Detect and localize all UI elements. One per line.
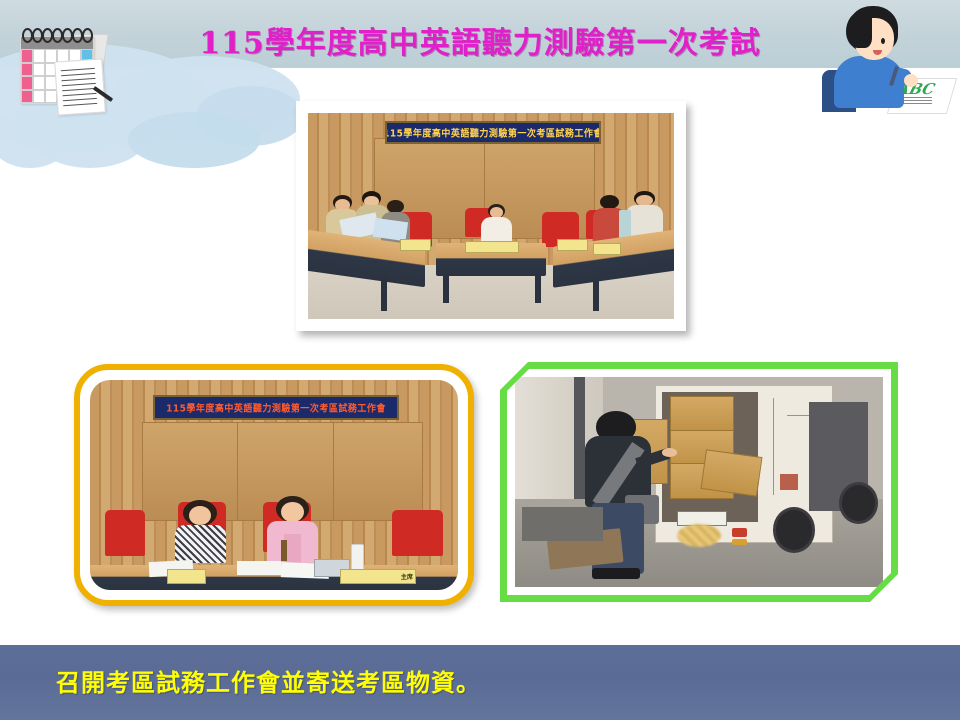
calendar-icon — [14, 22, 124, 118]
led-banner-text: 115學年度高中英語聽力測驗第一次考區試務工作會 — [166, 400, 386, 414]
led-banner-text: 115學年度高中英語聽力測驗第一次考區試務工作會 — [385, 125, 601, 139]
nameplate-chairperson-text: 主席 — [401, 572, 415, 581]
student-writing-icon: ABC — [818, 4, 938, 112]
photo-meeting-room-chairperson[interactable]: 115學年度高中英語聽力測驗第一次考區試務工作會 — [74, 364, 474, 606]
page-title: 115學年度高中英語聽力測驗第一次考試 — [0, 18, 960, 62]
led-banner-bottom-left: 115學年度高中英語聽力測驗第一次考區試務工作會 — [153, 395, 400, 420]
led-banner-top: 115學年度高中英語聽力測驗第一次考區試務工作會 — [385, 121, 601, 144]
photo-truck-loading-supplies[interactable] — [500, 362, 898, 602]
caption-text: 召開考區試務工作會並寄送考區物資。 — [56, 663, 481, 698]
caption-bar: 召開考區試務工作會並寄送考區物資。 — [0, 645, 960, 720]
slide-canvas: 115學年度高中英語聽力測驗第一次考試 ABC — [0, 0, 960, 720]
photo-meeting-room-wide[interactable]: 115學年度高中英語聽力測驗第一次考區試務工作會 — [296, 101, 686, 331]
notepad-icon — [54, 58, 106, 115]
